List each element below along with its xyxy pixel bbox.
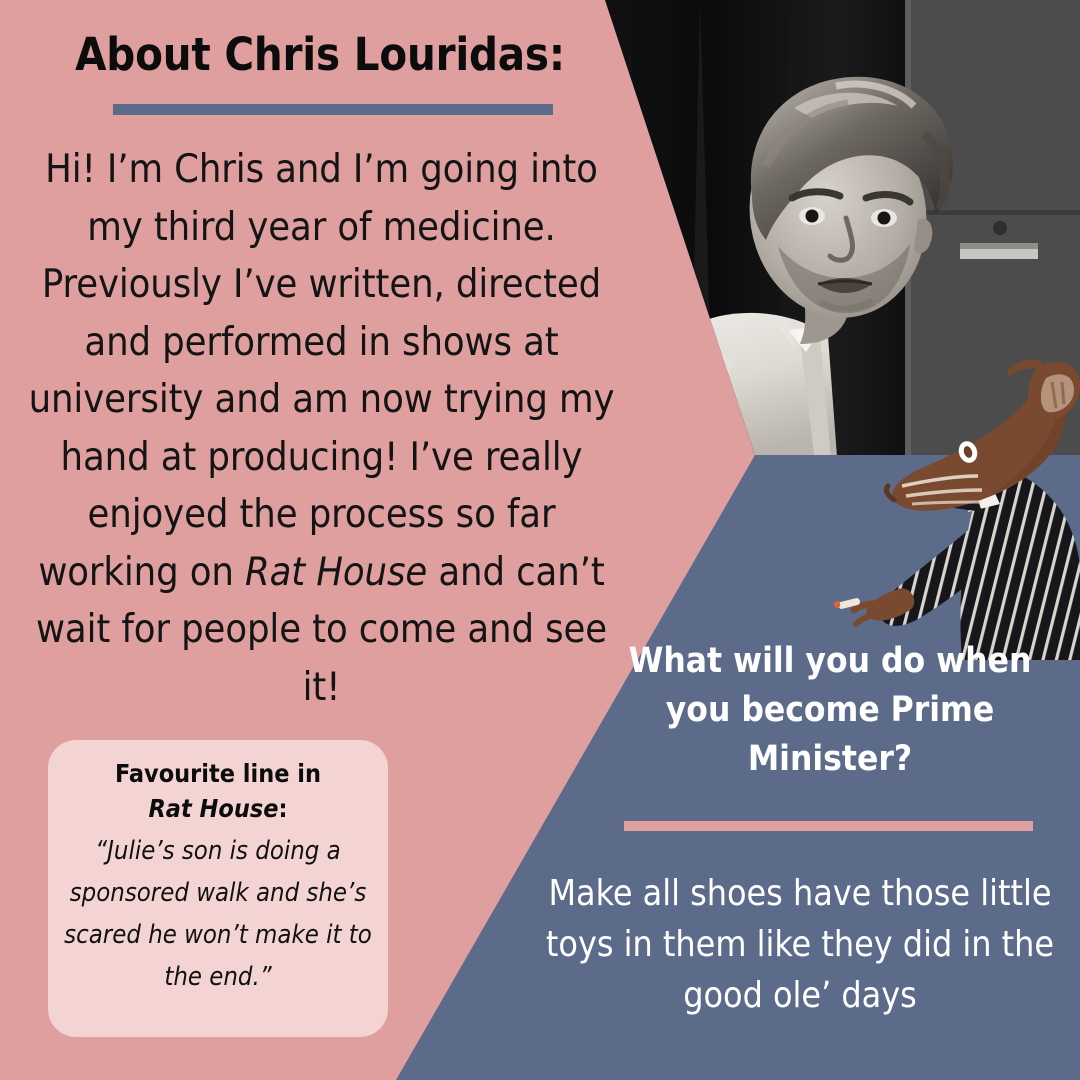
favourite-line-card: Favourite line in Rat House: “Julie’s so…: [48, 740, 388, 1037]
title-divider: [113, 104, 553, 115]
prime-minister-divider: [624, 821, 1033, 831]
about-body-part1: Hi! I’m Chris and I’m going into my thir…: [29, 146, 615, 595]
favourite-line-quote: “Julie’s son is doing a sponsored walk a…: [62, 830, 374, 998]
page-title: About Chris Louridas:: [0, 28, 640, 81]
prime-minister-question: What will you do when you become Prime M…: [600, 637, 1060, 784]
favourite-line-colon: :: [279, 794, 288, 823]
favourite-line-show-title: Rat House: [148, 794, 278, 823]
favourite-line-heading: Favourite line in Rat House:: [62, 756, 374, 826]
prime-minister-answer: Make all shoes have those little toys in…: [525, 868, 1075, 1021]
show-title-inline: Rat House: [245, 549, 427, 595]
favourite-line-label: Favourite line in: [115, 759, 321, 788]
profile-poster: About Chris Louridas: Hi! I’m Chris and …: [0, 0, 1080, 1080]
about-body-text: Hi! I’m Chris and I’m going into my thir…: [14, 141, 629, 716]
